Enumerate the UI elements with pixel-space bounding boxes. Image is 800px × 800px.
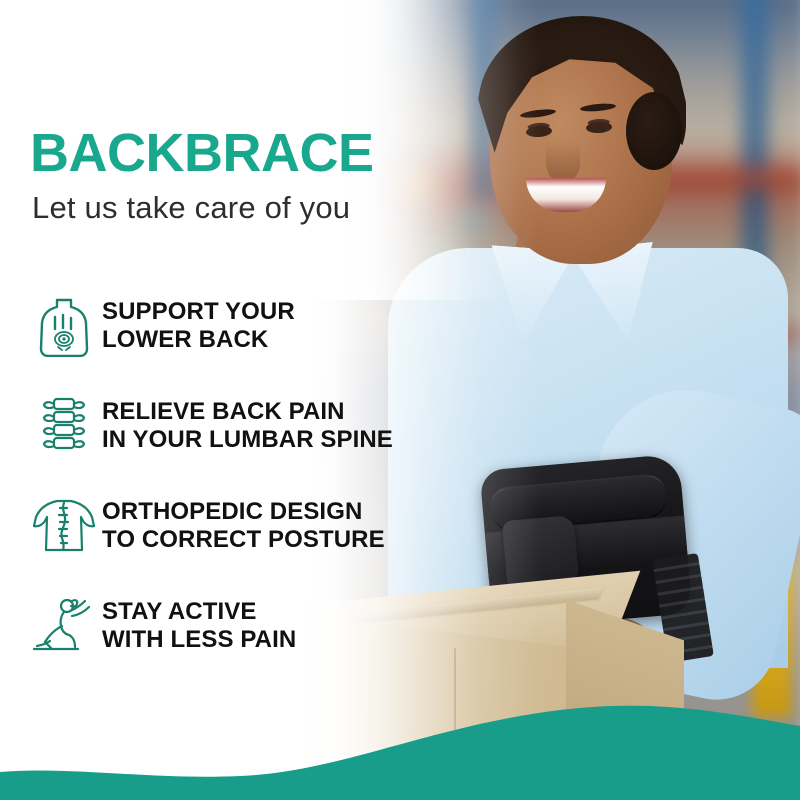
nose — [546, 142, 580, 182]
yoga-lunge-person-icon — [30, 593, 98, 659]
feature-item-stay-active: STAY ACTIVE WITH LESS PAIN — [0, 576, 470, 676]
feature-item-relieve-back-pain: RELIEVE BACK PAIN IN YOUR LUMBAR SPINE — [0, 376, 470, 476]
torso-spine-posture-icon — [30, 493, 98, 559]
vertebrae-stack-icon — [30, 393, 98, 459]
feature-label: RELIEVE BACK PAIN IN YOUR LUMBAR SPINE — [102, 398, 393, 454]
brand-tagline: Let us take care of you — [32, 192, 350, 223]
feature-label: STAY ACTIVE WITH LESS PAIN — [102, 598, 296, 654]
text-content: BACKBRACE Let us take care of you SUPPOR… — [0, 0, 470, 800]
back-torso-pain-waves-icon — [30, 293, 98, 359]
feature-list: SUPPORT YOUR LOWER BACK — [0, 276, 470, 676]
brand-title: BACKBRACE — [30, 126, 374, 180]
feature-label: ORTHOPEDIC DESIGN TO CORRECT POSTURE — [102, 498, 385, 554]
product-banner: BACKBRACE Let us take care of you SUPPOR… — [0, 0, 800, 800]
feature-item-support-lower-back: SUPPORT YOUR LOWER BACK — [0, 276, 470, 376]
feature-item-orthopedic-design: ORTHOPEDIC DESIGN TO CORRECT POSTURE — [0, 476, 470, 576]
hair-bun — [626, 92, 682, 170]
feature-label: SUPPORT YOUR LOWER BACK — [102, 298, 295, 354]
